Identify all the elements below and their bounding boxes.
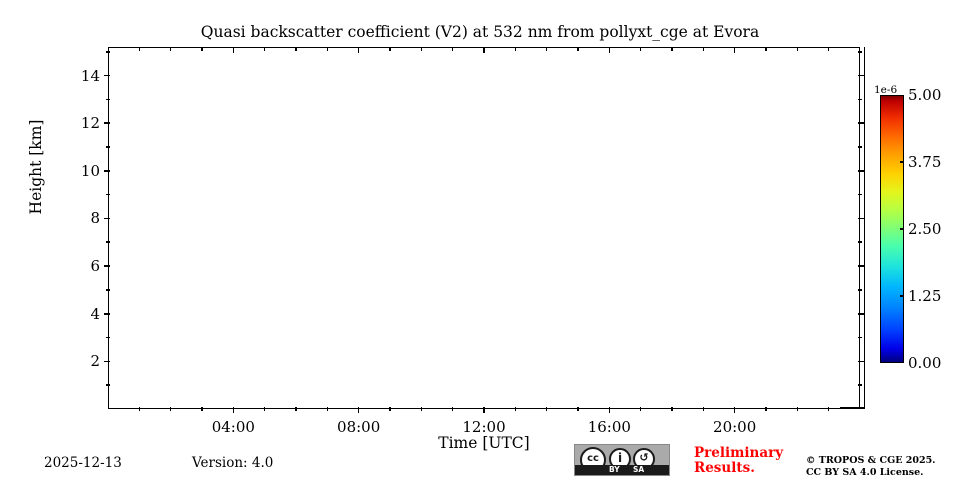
x-minor-tick-top <box>170 47 172 51</box>
x-minor-tick <box>389 407 391 411</box>
y-major-tick <box>104 313 110 315</box>
colorbar-tick-label: 5.00 <box>908 87 941 103</box>
x-minor-tick <box>170 407 172 411</box>
lidar-quicklook-figure: Quasi backscatter coefficient (V2) at 53… <box>0 0 960 480</box>
x-minor-tick-top <box>546 47 548 51</box>
y-major-tick <box>104 122 110 124</box>
x-minor-tick-top <box>139 47 141 51</box>
y-minor-tick-right <box>858 99 862 101</box>
y-minor-tick-right <box>858 241 862 243</box>
x-minor-tick <box>139 407 141 411</box>
x-minor-tick-top <box>295 47 297 51</box>
x-major-tick-top <box>609 47 611 53</box>
x-minor-tick-top <box>452 47 454 51</box>
y-minor-tick <box>106 289 110 291</box>
colorbar-tick-label: 0.00 <box>908 355 941 371</box>
y-major-tick <box>104 75 110 77</box>
x-minor-tick-top <box>703 47 705 51</box>
colorbar-tick-label: 2.50 <box>908 221 941 237</box>
x-major-tick <box>233 407 235 413</box>
x-major-tick <box>358 407 360 413</box>
x-minor-tick-top <box>671 47 673 51</box>
y-minor-tick <box>106 146 110 148</box>
x-minor-tick <box>201 407 203 411</box>
x-minor-tick <box>515 407 517 411</box>
y-minor-tick <box>106 241 110 243</box>
y-tick-label: 10 <box>64 163 100 179</box>
x-minor-tick <box>577 407 579 411</box>
preliminary-line-2: Results. <box>694 461 804 476</box>
y-tick-label: 6 <box>64 258 100 274</box>
cc-badge-bottom-strip: BY SA <box>575 465 669 475</box>
x-tick-label: 16:00 <box>588 419 631 435</box>
y-minor-tick-right <box>858 337 862 339</box>
y-major-tick <box>104 265 110 267</box>
x-minor-tick-top <box>640 47 642 51</box>
colorbar-tick-label: 1.25 <box>908 288 941 304</box>
x-major-tick <box>483 407 485 413</box>
preliminary-line-1: Preliminary <box>694 446 804 461</box>
x-minor-tick <box>671 407 673 411</box>
x-minor-tick-top <box>828 47 830 51</box>
cc-by-label: BY <box>609 465 620 475</box>
colorbar-outer-spine-bottom <box>840 407 865 409</box>
y-tick-label: 14 <box>64 68 100 84</box>
y-minor-tick <box>106 337 110 339</box>
x-minor-tick-top <box>515 47 517 51</box>
x-minor-tick <box>264 407 266 411</box>
x-minor-tick <box>765 407 767 411</box>
x-major-tick <box>609 407 611 413</box>
x-minor-tick <box>327 407 329 411</box>
y-minor-tick-right <box>858 146 862 148</box>
x-minor-tick-top <box>264 47 266 51</box>
x-minor-tick-top <box>421 47 423 51</box>
y-tick-label: 2 <box>64 353 100 369</box>
y-minor-tick-right <box>858 384 862 386</box>
x-minor-tick <box>452 407 454 411</box>
copyright-line-1: © TROPOS & CGE 2025. <box>806 455 936 467</box>
y-minor-tick <box>106 99 110 101</box>
y-minor-tick-right <box>858 289 862 291</box>
x-minor-tick <box>703 407 705 411</box>
x-major-tick <box>734 407 736 413</box>
y-tick-label: 8 <box>64 210 100 226</box>
x-minor-tick-top <box>201 47 203 51</box>
x-minor-tick <box>640 407 642 411</box>
y-major-tick <box>104 170 110 172</box>
footer-version: Version: 4.0 <box>192 455 273 471</box>
x-tick-label: 08:00 <box>337 419 380 435</box>
colorbar-tick <box>900 228 904 229</box>
x-minor-tick <box>546 407 548 411</box>
colorbar-tick-label: 3.75 <box>908 154 941 170</box>
y-minor-tick <box>106 384 110 386</box>
x-minor-tick-top <box>389 47 391 51</box>
x-minor-tick <box>828 407 830 411</box>
y-minor-tick-right <box>858 51 862 53</box>
footer-date: 2025-12-13 <box>44 455 122 471</box>
y-minor-tick <box>106 194 110 196</box>
x-minor-tick-top <box>577 47 579 51</box>
x-major-tick-top <box>734 47 736 53</box>
colorbar-offset-text: 1e-6 <box>874 84 897 96</box>
y-tick-label: 4 <box>64 306 100 322</box>
y-minor-tick <box>106 51 110 53</box>
cc-badge-top-row: cc i ↺ <box>575 445 669 467</box>
copyright-line-2: CC BY SA 4.0 License. <box>806 467 936 479</box>
x-minor-tick <box>797 407 799 411</box>
page-title: Quasi backscatter coefficient (V2) at 53… <box>0 23 960 41</box>
x-major-tick-top <box>483 47 485 53</box>
cc-sa-label: SA <box>633 465 644 475</box>
copyright-notice: © TROPOS & CGE 2025. CC BY SA 4.0 Licens… <box>806 455 936 479</box>
x-minor-tick-top <box>765 47 767 51</box>
x-minor-tick-top <box>797 47 799 51</box>
y-tick-label: 12 <box>64 115 100 131</box>
x-tick-label: 20:00 <box>713 419 756 435</box>
x-tick-label: 12:00 <box>462 419 505 435</box>
colorbar-tick <box>900 161 904 162</box>
axes-frame <box>108 47 860 409</box>
x-minor-tick <box>295 407 297 411</box>
y-major-tick <box>104 361 110 363</box>
cc-license-badge-icon[interactable]: cc i ↺ BY SA <box>574 444 670 476</box>
colorbar-outer-spine <box>864 47 865 409</box>
x-minor-tick <box>421 407 423 411</box>
y-minor-tick-right <box>858 194 862 196</box>
x-major-tick-top <box>233 47 235 53</box>
colorbar-tick <box>900 295 904 296</box>
x-major-tick-top <box>358 47 360 53</box>
y-axis-label: Height [km] <box>27 87 45 247</box>
preliminary-results-notice: Preliminary Results. <box>694 446 804 476</box>
y-major-tick <box>104 218 110 220</box>
x-tick-label: 04:00 <box>212 419 255 435</box>
x-minor-tick-top <box>327 47 329 51</box>
